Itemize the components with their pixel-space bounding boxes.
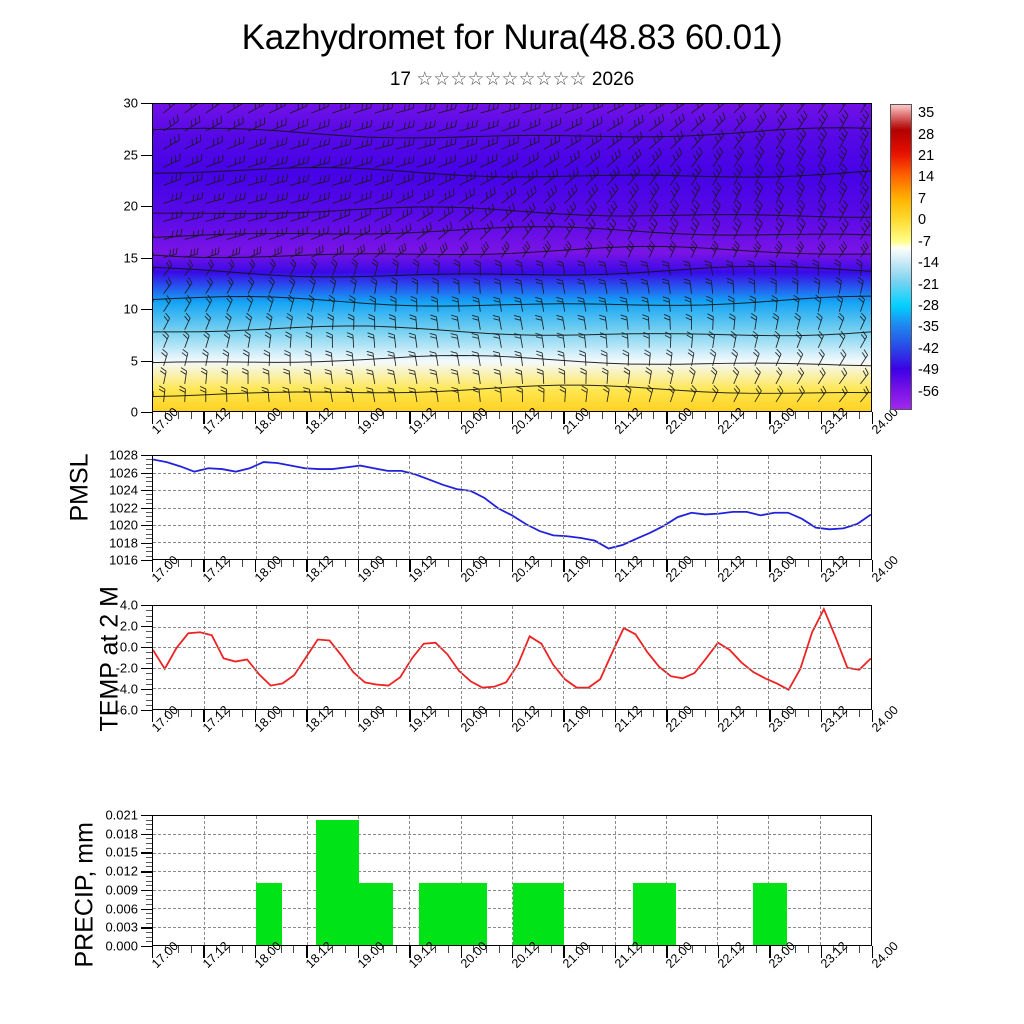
- y-minor-tick: [146, 529, 152, 530]
- x-minor-tick: [448, 946, 449, 953]
- x-minor-tick: [396, 946, 397, 953]
- x-minor-tick: [756, 412, 757, 419]
- y-tick-label: -6.0: [78, 703, 138, 718]
- precip-bar[interactable]: [256, 883, 282, 945]
- y-tick-label: 5: [78, 353, 138, 368]
- grid-line-vertical: [256, 606, 257, 709]
- y-minor-tick: [146, 899, 152, 900]
- y-major-tick: [141, 852, 152, 853]
- grid-line-horizontal: [153, 508, 871, 509]
- y-minor-tick: [146, 694, 152, 695]
- x-minor-tick: [808, 560, 809, 567]
- x-minor-tick: [756, 710, 757, 717]
- x-minor-tick: [602, 412, 603, 419]
- y-major-tick: [141, 103, 152, 104]
- y-minor-tick: [146, 503, 152, 504]
- grid-line-horizontal: [153, 542, 871, 543]
- y-major-tick: [141, 508, 152, 509]
- x-minor-tick: [448, 412, 449, 419]
- y-minor-tick: [146, 684, 152, 685]
- x-minor-tick: [191, 946, 192, 953]
- y-minor-tick: [146, 904, 152, 905]
- y-major-tick: [141, 605, 152, 606]
- y-tick-label: 0.006: [78, 901, 138, 916]
- colorbar-tick-label: 14: [918, 169, 934, 185]
- y-major-tick: [141, 927, 152, 928]
- y-tick-label: 1028: [78, 448, 138, 463]
- y-minor-tick: [146, 895, 152, 896]
- y-minor-tick: [146, 876, 152, 877]
- x-minor-tick: [602, 710, 603, 717]
- y-major-tick: [141, 412, 152, 413]
- y-tick-label: 1018: [78, 535, 138, 550]
- temp-y-axis: -6.0-4.0-2.00.02.04.0: [96, 605, 152, 710]
- colorbar-tick-label: 28: [918, 127, 934, 143]
- y-minor-tick: [146, 516, 152, 517]
- y-tick-label: -2.0: [78, 661, 138, 676]
- y-tick-label: 0: [78, 405, 138, 420]
- date-month-glyphs: ☆☆☆☆☆☆☆☆☆☆: [416, 69, 586, 90]
- y-minor-tick: [146, 679, 152, 680]
- y-minor-tick: [146, 464, 152, 465]
- grid-line-vertical: [768, 606, 769, 709]
- x-minor-tick: [242, 412, 243, 419]
- precip-bar[interactable]: [513, 883, 564, 945]
- x-minor-tick: [808, 946, 809, 953]
- y-tick-label: -4.0: [78, 682, 138, 697]
- y-major-tick: [141, 946, 152, 947]
- x-minor-tick: [191, 560, 192, 567]
- y-minor-tick: [146, 621, 152, 622]
- x-minor-tick: [859, 560, 860, 567]
- y-minor-tick: [146, 521, 152, 522]
- y-minor-tick: [146, 838, 152, 839]
- x-minor-tick: [396, 560, 397, 567]
- x-tick-label: 24.00: [869, 553, 901, 585]
- y-tick-label: 4.0: [78, 598, 138, 613]
- cross-section-plot[interactable]: [152, 103, 872, 412]
- x-minor-tick: [653, 412, 654, 419]
- y-major-tick: [141, 647, 152, 648]
- x-minor-tick: [705, 710, 706, 717]
- grid-line-vertical: [820, 606, 821, 709]
- y-minor-tick: [146, 820, 152, 821]
- y-minor-tick: [146, 551, 152, 552]
- y-tick-label: 0.012: [78, 864, 138, 879]
- y-minor-tick: [146, 512, 152, 513]
- x-minor-tick: [653, 560, 654, 567]
- x-minor-tick: [551, 946, 552, 953]
- y-tick-label: 0.003: [78, 920, 138, 935]
- y-minor-tick: [146, 481, 152, 482]
- y-major-tick: [141, 309, 152, 310]
- x-minor-tick: [242, 710, 243, 717]
- precip-bar[interactable]: [419, 883, 488, 945]
- y-minor-tick: [146, 932, 152, 933]
- y-major-tick: [141, 560, 152, 561]
- y-minor-tick: [146, 652, 152, 653]
- y-minor-tick: [146, 547, 152, 548]
- x-minor-tick: [756, 946, 757, 953]
- x-minor-tick: [448, 710, 449, 717]
- grid-line-vertical: [409, 606, 410, 709]
- colorbar-tick-label: -21: [918, 277, 939, 293]
- y-tick-label: 1022: [78, 500, 138, 515]
- x-minor-tick: [551, 710, 552, 717]
- colorbar-tick-label: -28: [918, 298, 939, 314]
- x-tick-label: 24.00: [869, 939, 901, 971]
- y-tick-label: 1020: [78, 518, 138, 533]
- y-major-tick: [141, 206, 152, 207]
- grid-line-horizontal: [153, 627, 871, 628]
- y-minor-tick: [146, 824, 152, 825]
- y-minor-tick: [146, 848, 152, 849]
- grid-line-vertical: [666, 606, 667, 709]
- colorbar-tick-label: 7: [918, 191, 926, 207]
- x-minor-tick: [859, 412, 860, 419]
- y-major-tick: [141, 890, 152, 891]
- y-minor-tick: [146, 700, 152, 701]
- colorbar[interactable]: [890, 104, 912, 410]
- pmsl-y-axis: 1016101810201022102410261028: [96, 455, 152, 560]
- x-minor-tick: [345, 412, 346, 419]
- precip-bar[interactable]: [359, 883, 393, 945]
- grid-line-vertical: [461, 606, 462, 709]
- temp-x-axis: 17.0017.1218.0018.1219.0019.1220.0020.12…: [152, 710, 872, 770]
- y-major-tick: [141, 525, 152, 526]
- y-minor-tick: [146, 843, 152, 844]
- grid-line-horizontal: [153, 871, 871, 872]
- colorbar-tick-label: 0: [918, 212, 926, 228]
- x-minor-tick: [653, 710, 654, 717]
- x-minor-tick: [293, 560, 294, 567]
- y-major-tick: [141, 689, 152, 690]
- grid-line-vertical: [307, 606, 308, 709]
- y-minor-tick: [146, 468, 152, 469]
- y-tick-label: 20: [78, 199, 138, 214]
- colorbar-tick-label: -42: [918, 341, 939, 357]
- y-tick-label: 30: [78, 96, 138, 111]
- grid-line-horizontal: [153, 668, 871, 669]
- precip-bar[interactable]: [316, 820, 359, 945]
- y-tick-label: 0.009: [78, 882, 138, 897]
- y-tick-label: 2.0: [78, 619, 138, 634]
- y-minor-tick: [146, 658, 152, 659]
- y-tick-label: 1024: [78, 483, 138, 498]
- colorbar-tick-label: -14: [918, 255, 939, 271]
- grid-line-horizontal: [153, 525, 871, 526]
- y-major-tick: [141, 155, 152, 156]
- precip-x-axis: 17.0017.1218.0018.1219.0019.1220.0020.12…: [152, 946, 872, 1006]
- y-major-tick: [141, 710, 152, 711]
- x-minor-tick: [293, 946, 294, 953]
- x-minor-tick: [191, 412, 192, 419]
- grid-line-horizontal: [153, 473, 871, 474]
- y-minor-tick: [146, 499, 152, 500]
- y-minor-tick: [146, 610, 152, 611]
- x-minor-tick: [551, 412, 552, 419]
- grid-line-horizontal: [153, 834, 871, 835]
- y-minor-tick: [146, 937, 152, 938]
- colorbar-tick-label: 21: [918, 148, 934, 164]
- y-tick-label: 0.000: [78, 939, 138, 954]
- y-tick-label: 15: [78, 250, 138, 265]
- y-minor-tick: [146, 941, 152, 942]
- y-major-tick: [141, 490, 152, 491]
- y-major-tick: [141, 455, 152, 456]
- y-minor-tick: [146, 486, 152, 487]
- x-minor-tick: [499, 710, 500, 717]
- y-minor-tick: [146, 477, 152, 478]
- grid-line-vertical: [615, 606, 616, 709]
- y-minor-tick: [146, 829, 152, 830]
- y-major-tick: [141, 909, 152, 910]
- grid-line-vertical: [204, 606, 205, 709]
- y-major-tick: [141, 543, 152, 544]
- precip-bar[interactable]: [753, 883, 787, 945]
- date-year: 2026: [592, 69, 634, 90]
- grid-line-horizontal: [153, 853, 871, 854]
- x-minor-tick: [499, 412, 500, 419]
- y-minor-tick: [146, 494, 152, 495]
- y-minor-tick: [146, 705, 152, 706]
- y-tick-label: 25: [78, 147, 138, 162]
- y-minor-tick: [146, 642, 152, 643]
- grid-line-horizontal: [153, 490, 871, 491]
- temp-plot[interactable]: [152, 605, 872, 710]
- x-minor-tick: [705, 946, 706, 953]
- pmsl-plot[interactable]: [152, 455, 872, 560]
- y-minor-tick: [146, 663, 152, 664]
- x-minor-tick: [499, 946, 500, 953]
- y-tick-label: 0.0: [78, 640, 138, 655]
- x-minor-tick: [602, 946, 603, 953]
- y-minor-tick: [146, 631, 152, 632]
- y-minor-tick: [146, 857, 152, 858]
- x-minor-tick: [345, 560, 346, 567]
- colorbar-tick-label: -7: [918, 234, 931, 250]
- x-minor-tick: [756, 560, 757, 567]
- y-tick-label: 0.018: [78, 826, 138, 841]
- x-minor-tick: [448, 560, 449, 567]
- x-minor-tick: [345, 710, 346, 717]
- y-tick-label: 1026: [78, 465, 138, 480]
- x-minor-tick: [705, 412, 706, 419]
- x-minor-tick: [808, 710, 809, 717]
- y-minor-tick: [146, 616, 152, 617]
- y-major-tick: [141, 626, 152, 627]
- x-minor-tick: [293, 412, 294, 419]
- colorbar-tick-label: -56: [918, 384, 939, 400]
- cross-section-y-axis: 051015202530: [96, 103, 152, 412]
- x-minor-tick: [602, 560, 603, 567]
- y-minor-tick: [146, 923, 152, 924]
- y-major-tick: [141, 361, 152, 362]
- y-tick-label: 0.015: [78, 845, 138, 860]
- grid-line-vertical: [512, 606, 513, 709]
- y-tick-label: 10: [78, 302, 138, 317]
- y-major-tick: [141, 834, 152, 835]
- y-major-tick: [141, 815, 152, 816]
- grid-line-horizontal: [153, 688, 871, 689]
- x-minor-tick: [345, 946, 346, 953]
- y-minor-tick: [146, 538, 152, 539]
- precip-bar[interactable]: [633, 883, 676, 945]
- grid-line-vertical: [717, 606, 718, 709]
- x-minor-tick: [396, 412, 397, 419]
- y-minor-tick: [146, 913, 152, 914]
- x-minor-tick: [859, 710, 860, 717]
- y-minor-tick: [146, 459, 152, 460]
- y-minor-tick: [146, 866, 152, 867]
- wind-barbs-and-contours: [153, 104, 871, 411]
- page-title: Kazhydromet for Nura(48.83 60.01): [0, 18, 1024, 58]
- y-major-tick: [141, 668, 152, 669]
- precip-plot[interactable]: [152, 815, 872, 946]
- x-minor-tick: [859, 946, 860, 953]
- x-minor-tick: [808, 412, 809, 419]
- x-minor-tick: [705, 560, 706, 567]
- y-minor-tick: [146, 556, 152, 557]
- x-tick-label: 24.00: [869, 703, 901, 735]
- x-minor-tick: [551, 560, 552, 567]
- y-minor-tick: [146, 918, 152, 919]
- date-subtitle: 17 ☆☆☆☆☆☆☆☆☆☆ 2026: [0, 68, 1024, 91]
- colorbar-tick-label: -49: [918, 362, 939, 378]
- precip-y-axis: 0.0000.0030.0060.0090.0120.0150.0180.021: [96, 815, 152, 946]
- y-minor-tick: [146, 637, 152, 638]
- y-major-tick: [141, 871, 152, 872]
- colorbar-tick-label: 35: [918, 105, 934, 121]
- y-tick-label: 0.021: [78, 808, 138, 823]
- x-minor-tick: [242, 560, 243, 567]
- y-minor-tick: [146, 534, 152, 535]
- x-minor-tick: [653, 946, 654, 953]
- y-major-tick: [141, 258, 152, 259]
- y-minor-tick: [146, 862, 152, 863]
- grid-line-vertical: [563, 606, 564, 709]
- grid-line-vertical: [358, 606, 359, 709]
- y-minor-tick: [146, 673, 152, 674]
- colorbar-labels: 3528211470-7-14-21-28-35-42-49-56: [918, 104, 1018, 410]
- y-tick-label: 1016: [78, 553, 138, 568]
- y-minor-tick: [146, 881, 152, 882]
- y-minor-tick: [146, 885, 152, 886]
- x-minor-tick: [293, 710, 294, 717]
- x-minor-tick: [499, 560, 500, 567]
- x-minor-tick: [242, 946, 243, 953]
- x-minor-tick: [191, 710, 192, 717]
- date-day: 17: [390, 69, 411, 90]
- colorbar-tick-label: -35: [918, 319, 939, 335]
- grid-line-horizontal: [153, 647, 871, 648]
- y-major-tick: [141, 473, 152, 474]
- x-minor-tick: [396, 710, 397, 717]
